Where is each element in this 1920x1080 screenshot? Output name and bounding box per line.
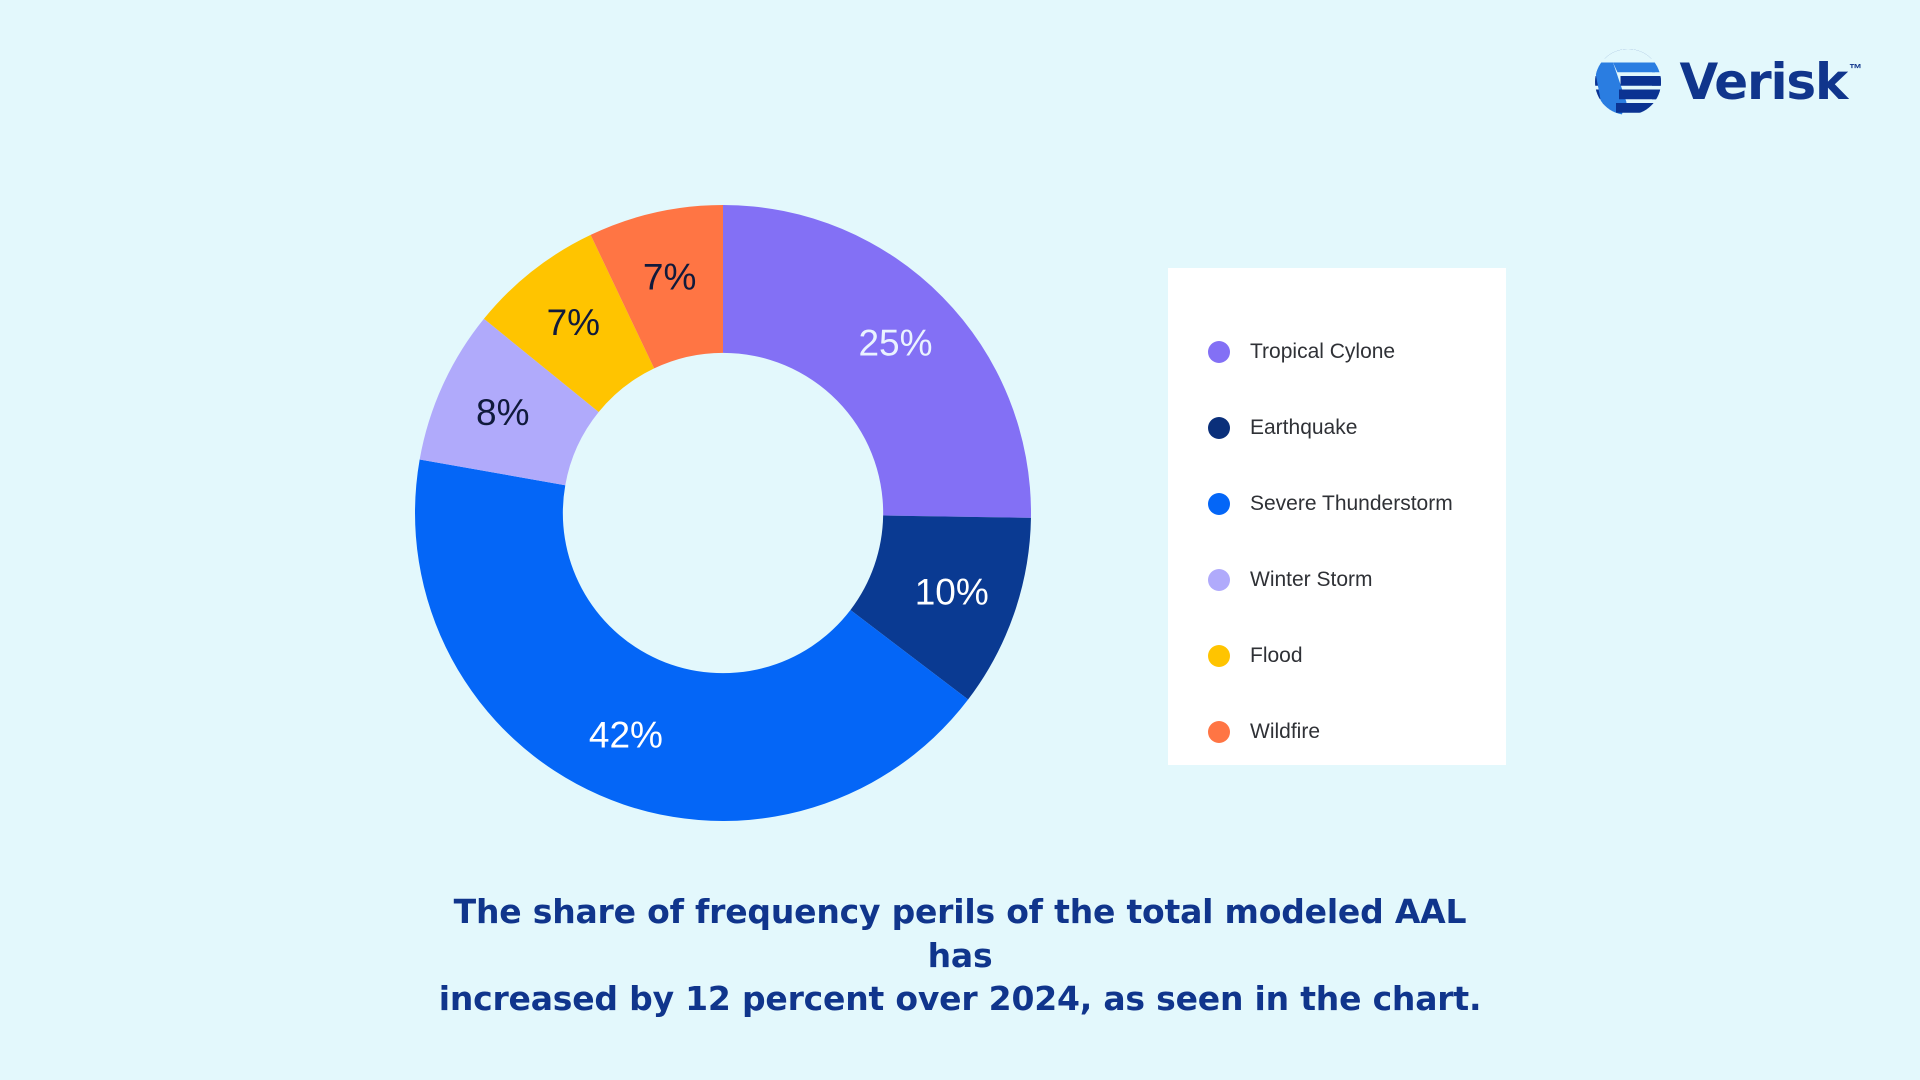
legend-item-severe-thunderstorm[interactable]: Severe Thunderstorm	[1208, 466, 1506, 542]
chart-legend: Tropical Cylone Earthquake Severe Thunde…	[1168, 268, 1506, 765]
caption-line-2: increased by 12 percent over 2024, as se…	[430, 977, 1490, 1021]
slice-value-label: 7%	[547, 302, 600, 343]
legend-label: Flood	[1250, 644, 1303, 668]
slice-value-label: 10%	[915, 572, 989, 613]
legend-label: Winter Storm	[1250, 568, 1373, 592]
donut-chart: 25%10%42%8%7%7%	[415, 205, 1031, 821]
donut-chart-svg: 25%10%42%8%7%7%	[415, 205, 1031, 821]
legend-label: Wildfire	[1250, 720, 1320, 744]
legend-dot-icon	[1208, 493, 1230, 515]
caption-line-1: The share of frequency perils of the tot…	[430, 890, 1490, 977]
legend-label: Tropical Cylone	[1250, 340, 1395, 364]
slice-value-label: 25%	[858, 323, 932, 364]
legend-label: Earthquake	[1250, 416, 1357, 440]
slice-value-label: 7%	[643, 256, 696, 297]
chart-caption: The share of frequency perils of the tot…	[430, 890, 1490, 1021]
legend-label: Severe Thunderstorm	[1250, 492, 1453, 516]
legend-dot-icon	[1208, 341, 1230, 363]
legend-item-winter-storm[interactable]: Winter Storm	[1208, 542, 1506, 618]
slice-value-label: 42%	[589, 714, 663, 755]
legend-item-wildfire[interactable]: Wildfire	[1208, 694, 1506, 770]
slice-value-label: 8%	[476, 392, 529, 433]
legend-dot-icon	[1208, 645, 1230, 667]
legend-item-tropical-cylone[interactable]: Tropical Cylone	[1208, 314, 1506, 390]
legend-dot-icon	[1208, 721, 1230, 743]
legend-dot-icon	[1208, 569, 1230, 591]
legend-item-earthquake[interactable]: Earthquake	[1208, 390, 1506, 466]
legend-item-flood[interactable]: Flood	[1208, 618, 1506, 694]
legend-dot-icon	[1208, 417, 1230, 439]
